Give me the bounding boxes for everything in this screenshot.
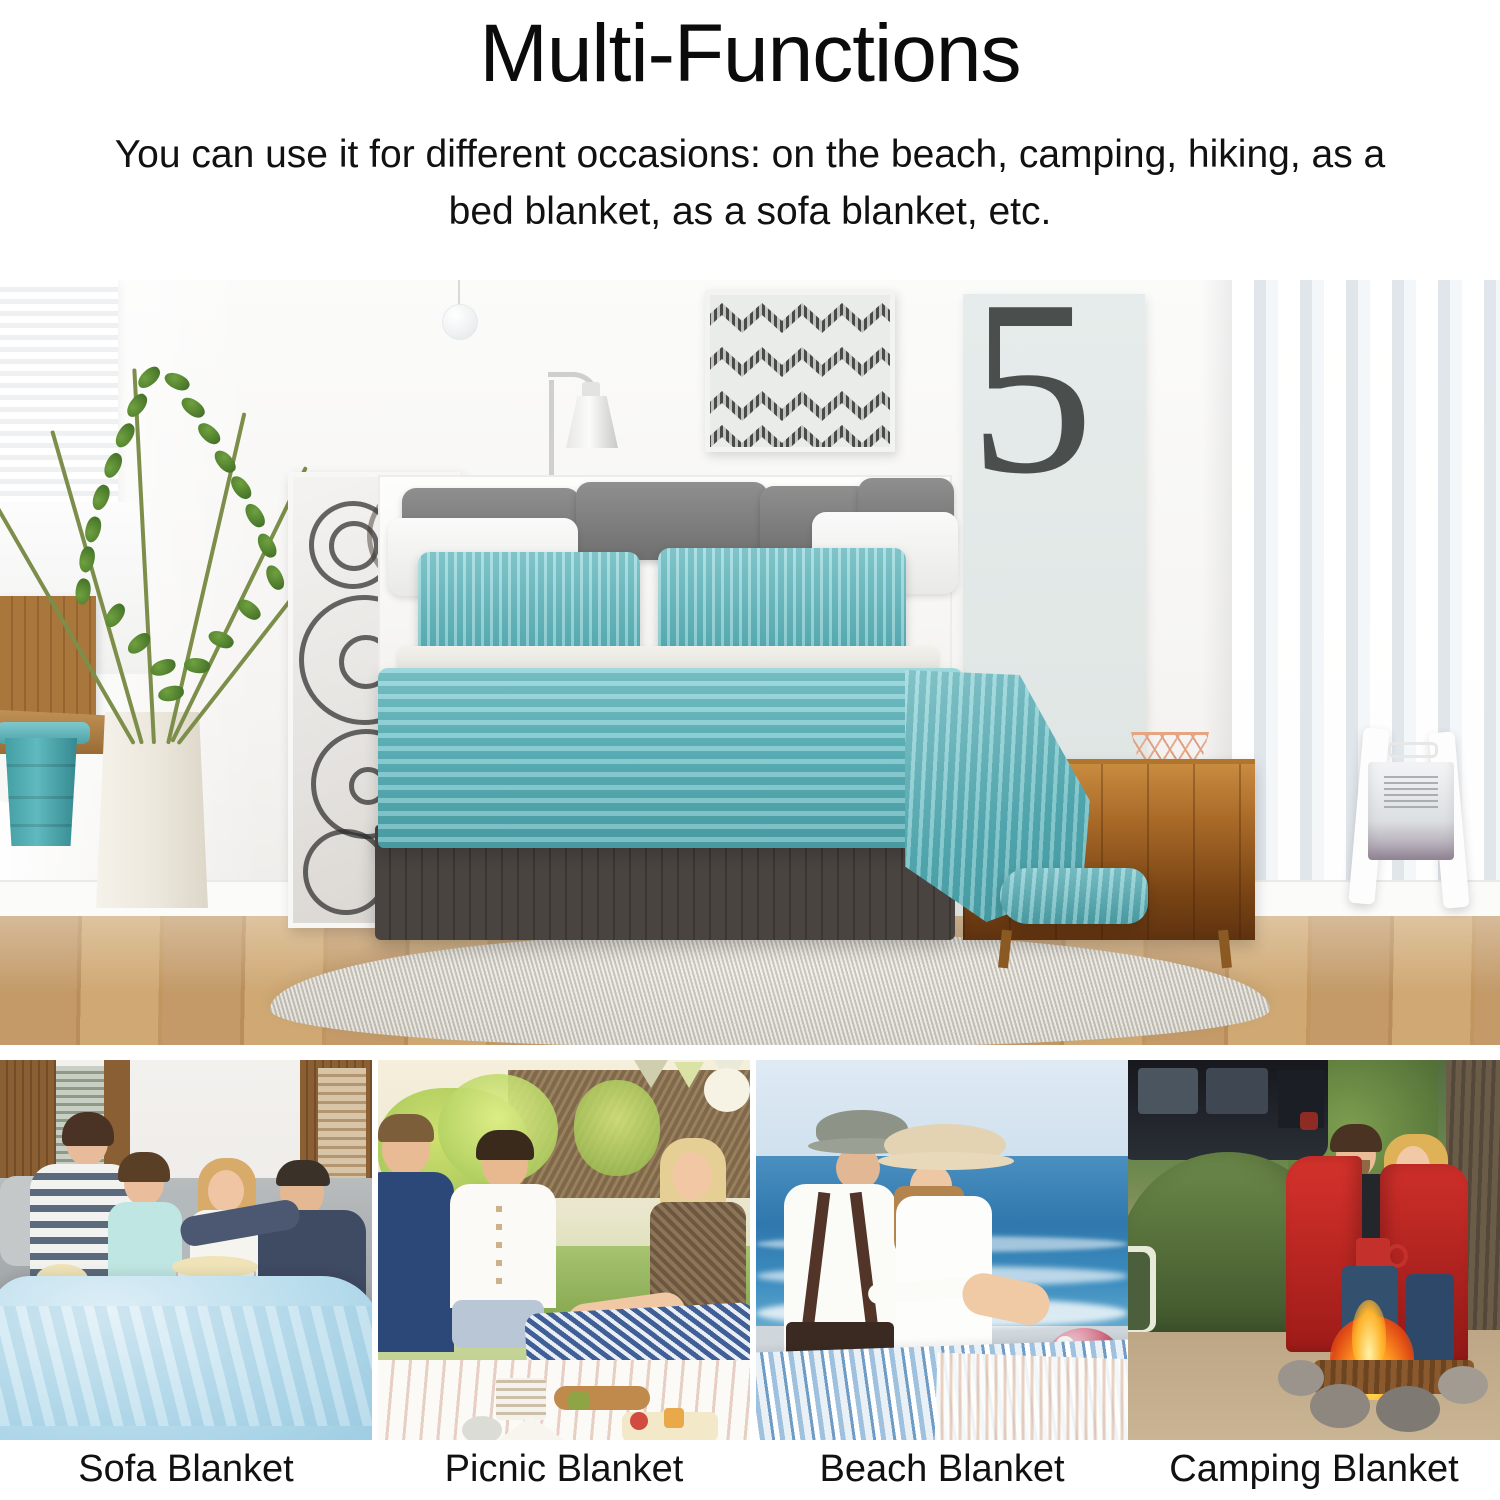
thumbnail-picnic-blanket[interactable] — [378, 1060, 750, 1440]
product-feature-page: Multi-Functions You can use it for diffe… — [0, 0, 1500, 1500]
magazine-text-lines — [1384, 776, 1438, 812]
thumbnail-camping-blanket[interactable] — [1128, 1060, 1500, 1440]
poster-number-text: 5 — [969, 294, 1094, 495]
turquoise-quilt — [378, 668, 963, 848]
page-title: Multi-Functions — [0, 8, 1500, 100]
page-subtitle: You can use it for different occasions: … — [90, 126, 1410, 240]
use-case-thumbnail-strip: POPCORN — [0, 1060, 1500, 1440]
caption-sofa-blanket: Sofa Blanket — [0, 1440, 372, 1500]
hero-bedroom-photo: 5 — [0, 280, 1500, 1045]
rack-handle — [1388, 742, 1438, 758]
chevron-artwork — [705, 290, 895, 452]
quilt-drape-tail — [1000, 868, 1148, 924]
thumbnail-sofa-blanket[interactable]: POPCORN — [0, 1060, 372, 1440]
header: Multi-Functions You can use it for diffe… — [0, 0, 1500, 280]
thumbnail-captions: Sofa Blanket Picnic Blanket Beach Blanke… — [0, 1440, 1500, 1500]
magazine-rack — [1350, 728, 1472, 912]
caption-camping-blanket: Camping Blanket — [1128, 1440, 1500, 1500]
teal-bucket — [0, 738, 82, 846]
sham-turquoise-right — [658, 548, 906, 660]
thumbnail-beach-blanket[interactable] — [756, 1060, 1128, 1440]
caption-picnic-blanket: Picnic Blanket — [378, 1440, 750, 1500]
pendant-bulb-icon — [442, 304, 478, 340]
caption-beach-blanket: Beach Blanket — [756, 1440, 1128, 1500]
